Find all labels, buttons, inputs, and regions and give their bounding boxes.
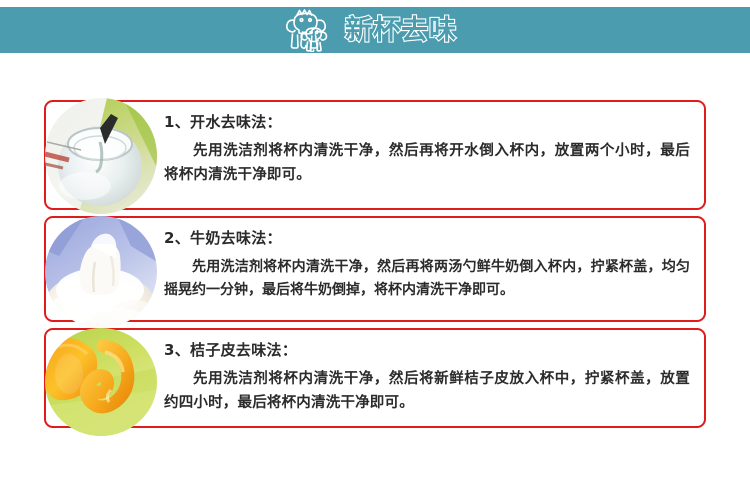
tip-body: 先用洗洁剂将杯内清洗干净，然后再将开水倒入杯内，放置两个小时，最后将杯内清洗干净… bbox=[164, 140, 690, 188]
header-band: 新杯去味 bbox=[0, 7, 750, 53]
tip-text-column: 2、牛奶去味法： 先用洗洁剂将杯内清洗干净，然后再将两汤勺鲜牛奶倒入杯内，拧紧杯… bbox=[156, 218, 704, 320]
brand-title: 新杯去味 bbox=[345, 17, 457, 44]
tip-body: 先用洗洁剂将杯内清洗干净，然后再将两汤勺鲜牛奶倒入杯内，拧紧杯盖，均匀摇晃约一分… bbox=[164, 256, 690, 302]
tip-block: 3、桔子皮去味法： 先用洗洁剂将杯内清洗干净，然后将新鲜桔子皮放入杯中，拧紧杯盖… bbox=[44, 328, 706, 428]
tip-body: 先用洗洁剂将杯内清洗干净，然后将新鲜桔子皮放入杯中，拧紧杯盖，放置约四小时，最后… bbox=[164, 368, 690, 416]
glass-cup-with-water-photo bbox=[45, 98, 157, 214]
milk-pouring-photo bbox=[45, 216, 157, 328]
photo-column bbox=[46, 218, 156, 320]
elephant-mascot-icon bbox=[277, 8, 335, 52]
brand-logo: 新杯去味 bbox=[277, 8, 457, 52]
tip-title: 1、开水去味法： bbox=[164, 113, 690, 131]
tip-title: 2、牛奶去味法： bbox=[164, 229, 690, 247]
tip-block: 2、牛奶去味法： 先用洗洁剂将杯内清洗干净，然后再将两汤勺鲜牛奶倒入杯内，拧紧杯… bbox=[44, 216, 706, 322]
tips-list: 1、开水去味法： 先用洗洁剂将杯内清洗干净，然后再将开水倒入杯内，放置两个小时，… bbox=[44, 100, 706, 428]
tip-block: 1、开水去味法： 先用洗洁剂将杯内清洗干净，然后再将开水倒入杯内，放置两个小时，… bbox=[44, 100, 706, 210]
photo-column bbox=[46, 330, 156, 426]
orange-peel-photo bbox=[45, 328, 157, 436]
photo-column bbox=[46, 102, 156, 208]
tip-title: 3、桔子皮去味法： bbox=[164, 341, 690, 359]
tip-text-column: 3、桔子皮去味法： 先用洗洁剂将杯内清洗干净，然后将新鲜桔子皮放入杯中，拧紧杯盖… bbox=[156, 330, 704, 426]
tip-text-column: 1、开水去味法： 先用洗洁剂将杯内清洗干净，然后再将开水倒入杯内，放置两个小时，… bbox=[156, 102, 704, 208]
